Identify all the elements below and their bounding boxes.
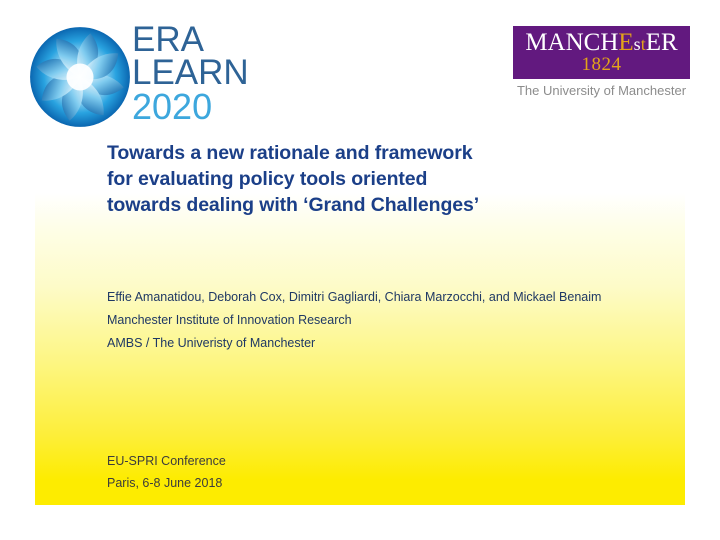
slide-title-line-2: for evaluating policy tools oriented: [107, 166, 687, 192]
slide-title: Towards a new rationale and framework fo…: [107, 140, 687, 218]
author-names: Effie Amanatidou, Deborah Cox, Dimitri G…: [107, 289, 637, 305]
uom-wordmark-part2: E: [618, 29, 633, 56]
author-affiliation-institute: Manchester Institute of Innovation Resea…: [107, 312, 647, 328]
era-learn-wordmark: ERA LEARN 2020: [132, 22, 260, 127]
uom-wordmark-part6: R: [661, 29, 678, 56]
era-logo-line-learn: LEARN: [132, 57, 249, 89]
presentation-slide: ERA LEARN 2020 MANCHEstER 1824 The Unive…: [0, 0, 720, 540]
uom-tagline: The University of Manchester: [513, 83, 690, 98]
university-of-manchester-logo: MANCHEstER 1824 The University of Manche…: [513, 26, 690, 104]
era-learn-pinwheel-icon: [28, 25, 132, 129]
era-logo-line-era: ERA: [132, 24, 204, 56]
conference-location-date: Paris, 6-8 June 2018: [107, 472, 507, 494]
uom-wordmark-part5: E: [646, 29, 661, 56]
conference-name: EU-SPRI Conference: [107, 450, 507, 472]
era-learn-logo: ERA LEARN 2020: [28, 22, 260, 127]
uom-founding-year: 1824: [513, 55, 690, 74]
era-logo-line-year: 2020: [132, 90, 212, 123]
uom-wordmark: MANCHEstER: [513, 30, 690, 55]
uom-wordmark-part3: s: [634, 34, 641, 54]
author-affiliation-university: AMBS / The Univeristy of Manchester: [107, 335, 647, 351]
slide-title-line-3: towards dealing with ‘Grand Challenges’: [107, 192, 687, 218]
slide-title-line-1: Towards a new rationale and framework: [107, 140, 687, 166]
uom-wordmark-part1: MANCH: [525, 29, 618, 56]
authors-block: Effie Amanatidou, Deborah Cox, Dimitri G…: [107, 289, 647, 351]
conference-block: EU-SPRI Conference Paris, 6-8 June 2018: [107, 450, 507, 494]
